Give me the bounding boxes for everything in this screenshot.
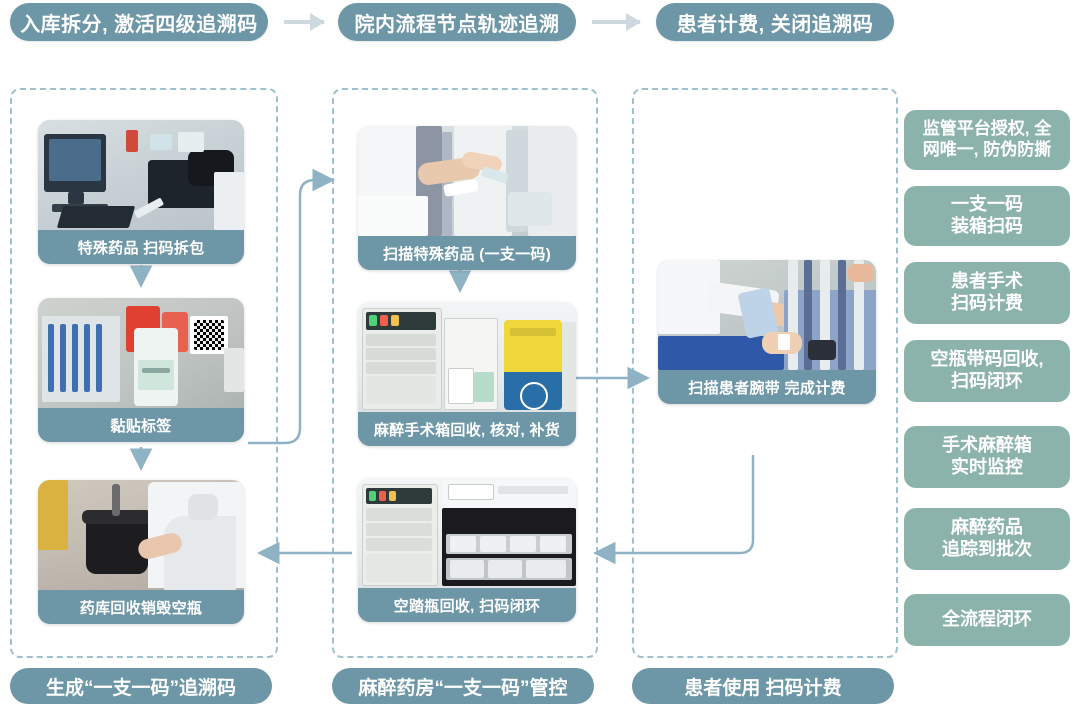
side-tag-line: 监管平台授权, 全	[923, 119, 1051, 140]
card-label-sticking[interactable]: 黏贴标签	[38, 298, 244, 442]
vial-qr-label-photo	[38, 298, 244, 408]
column-footer-2[interactable]: 麻醉药房“一支一码”管控	[332, 668, 594, 704]
card-caption: 麻醉手术箱回收, 核对, 补货	[358, 412, 576, 446]
card-scan-special-drug[interactable]: 扫描特殊药品 (一支一码)	[358, 126, 576, 270]
side-tag-line: 麻醉药品	[951, 517, 1023, 539]
card-destroy-bottle[interactable]: 药库回收销毁空瓶	[38, 480, 244, 624]
card-caption: 扫描患者腕带 完成计费	[658, 370, 876, 404]
top-stage-pill-3[interactable]: 患者计费, 关闭追溯码	[656, 3, 894, 41]
side-tag-line: 实时监控	[951, 457, 1023, 479]
card-empty-bottle-recycle[interactable]: 空踏瓶回收, 扫码闭环	[358, 478, 576, 622]
side-tag-5[interactable]: 手术麻醉箱 实时监控	[904, 426, 1070, 488]
side-tag-3[interactable]: 患者手术 扫码计费	[904, 262, 1070, 324]
card-anesthesia-cart[interactable]: 麻醉手术箱回收, 核对, 补货	[358, 302, 576, 446]
side-tag-line: 网唯一, 防伪防撕	[923, 140, 1051, 161]
side-tag-7[interactable]: 全流程闭环	[904, 594, 1070, 646]
side-tag-line: 扫码计费	[951, 293, 1023, 315]
card-scan-wristband[interactable]: 扫描患者腕带 完成计费	[658, 260, 876, 404]
wristband-scan-photo	[658, 260, 876, 370]
side-tag-2[interactable]: 一支一码 装箱扫码	[904, 186, 1070, 246]
top-stage-row: 入库拆分, 激活四级追溯码 院内流程节点轨迹追溯 患者计费, 关闭追溯码	[0, 0, 1080, 46]
side-tag-line: 手术麻醉箱	[942, 435, 1032, 457]
flowchart-canvas: 入库拆分, 激活四级追溯码 院内流程节点轨迹追溯 患者计费, 关闭追溯码	[0, 0, 1080, 709]
workstation-scanner-photo	[38, 120, 244, 230]
column-footer-3[interactable]: 患者使用 扫码计费	[632, 668, 894, 704]
side-tag-line: 全流程闭环	[942, 609, 1032, 631]
card-workstation-scan[interactable]: 特殊药品 扫码拆包	[38, 120, 244, 264]
card-caption: 黏贴标签	[38, 408, 244, 442]
side-tag-line: 患者手术	[951, 271, 1023, 293]
nurse-scanning-photo	[358, 126, 576, 236]
top-stage-pill-1[interactable]: 入库拆分, 激活四级追溯码	[10, 3, 268, 41]
side-tag-line: 空瓶带码回收,	[930, 349, 1043, 371]
side-tag-6[interactable]: 麻醉药品 追踪到批次	[904, 508, 1070, 570]
side-tag-line: 追踪到批次	[942, 539, 1032, 561]
card-caption: 空踏瓶回收, 扫码闭环	[358, 588, 576, 622]
top-arrow-2-to-3	[592, 20, 640, 24]
empty-bottle-cart-photo	[358, 478, 576, 588]
card-caption: 药库回收销毁空瓶	[38, 590, 244, 624]
side-tag-1[interactable]: 监管平台授权, 全 网唯一, 防伪防撕	[904, 110, 1070, 170]
side-tag-4[interactable]: 空瓶带码回收, 扫码闭环	[904, 340, 1070, 402]
pharmacy-destroy-photo	[38, 480, 244, 590]
side-tag-line: 装箱扫码	[951, 216, 1023, 238]
top-arrow-1-to-2	[284, 20, 324, 24]
card-caption: 特殊药品 扫码拆包	[38, 230, 244, 264]
card-caption: 扫描特殊药品 (一支一码)	[358, 236, 576, 270]
anesthesia-cart-photo	[358, 302, 576, 412]
side-tag-line: 扫码闭环	[951, 371, 1023, 393]
top-stage-pill-2[interactable]: 院内流程节点轨迹追溯	[338, 3, 576, 41]
column-footer-1[interactable]: 生成“一支一码”追溯码	[10, 668, 272, 704]
side-tag-line: 一支一码	[951, 194, 1023, 216]
